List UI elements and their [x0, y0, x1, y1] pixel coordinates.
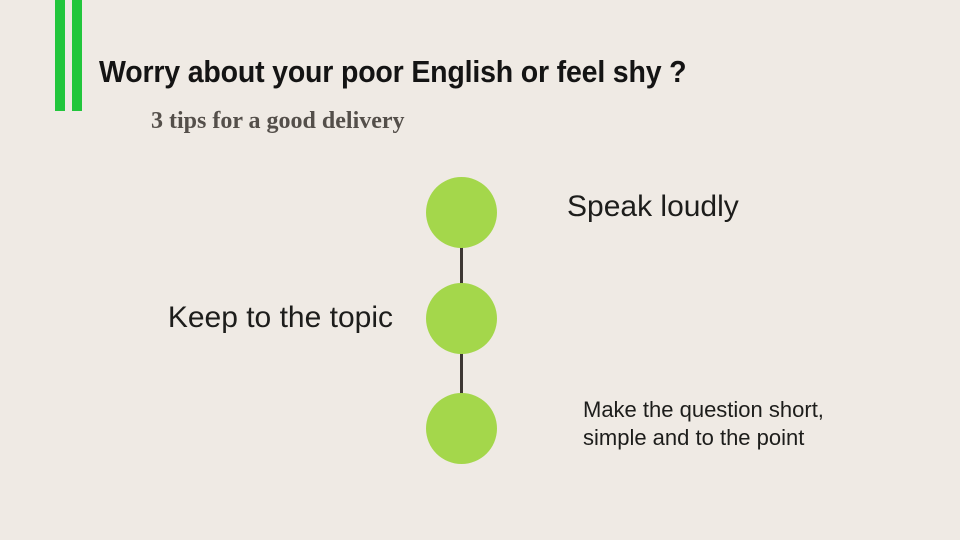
accent-bar-2 [72, 0, 82, 111]
chain-node-1[interactable] [426, 177, 497, 248]
slide-subtitle: 3 tips for a good delivery [151, 106, 405, 136]
accent-bar-1 [55, 0, 65, 111]
slide-title: Worry about your poor English or feel sh… [99, 54, 686, 90]
slide-canvas: Worry about your poor English or feel sh… [0, 0, 960, 540]
title-accent-bars [55, 0, 85, 111]
chain-node-2-label: Keep to the topic [0, 299, 393, 337]
chain-node-3-label-line-1: Make the question short, [583, 396, 824, 424]
chain-node-3[interactable] [426, 393, 497, 464]
chain-node-2[interactable] [426, 283, 497, 354]
chain-node-3-label-line-2: simple and to the point [583, 424, 824, 452]
chain-node-1-label: Speak loudly [567, 188, 739, 226]
chain-node-3-label: Make the question short, simple and to t… [583, 396, 824, 452]
